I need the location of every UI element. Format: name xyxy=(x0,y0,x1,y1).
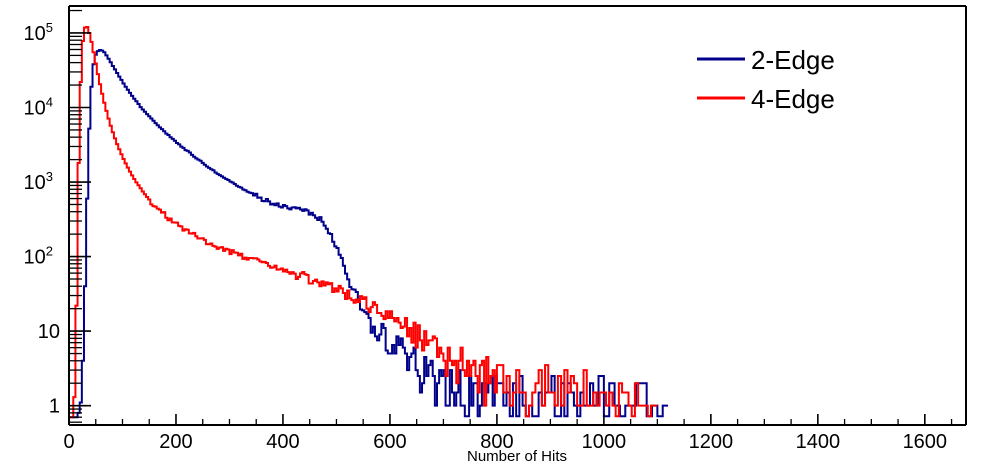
y-tick-label: 104 xyxy=(24,94,53,119)
y-tick-label: 1 xyxy=(49,396,60,418)
x-axis-title: Number of Hits xyxy=(467,448,567,465)
y-tick-label: 103 xyxy=(24,169,53,194)
y-tick-label: 105 xyxy=(24,20,53,45)
x-tick-label: 1600 xyxy=(903,431,948,453)
x-tick-label: 1200 xyxy=(689,431,734,453)
x-tick-label: 1000 xyxy=(582,431,627,453)
x-tick-label: 200 xyxy=(159,431,192,453)
x-tick-label: 400 xyxy=(266,431,299,453)
chart-canvas: 0200400600800100012001400160011010210310… xyxy=(0,0,996,472)
legend-label-2-edge: 2-Edge xyxy=(751,45,835,75)
legend-label-4-edge: 4-Edge xyxy=(751,84,835,114)
histogram-plot: 0200400600800100012001400160011010210310… xyxy=(0,0,996,472)
x-tick-label: 600 xyxy=(373,431,406,453)
x-tick-label: 0 xyxy=(63,431,74,453)
y-tick-label: 10 xyxy=(38,321,60,343)
y-tick-label: 102 xyxy=(24,244,53,269)
x-tick-label: 1400 xyxy=(796,431,841,453)
